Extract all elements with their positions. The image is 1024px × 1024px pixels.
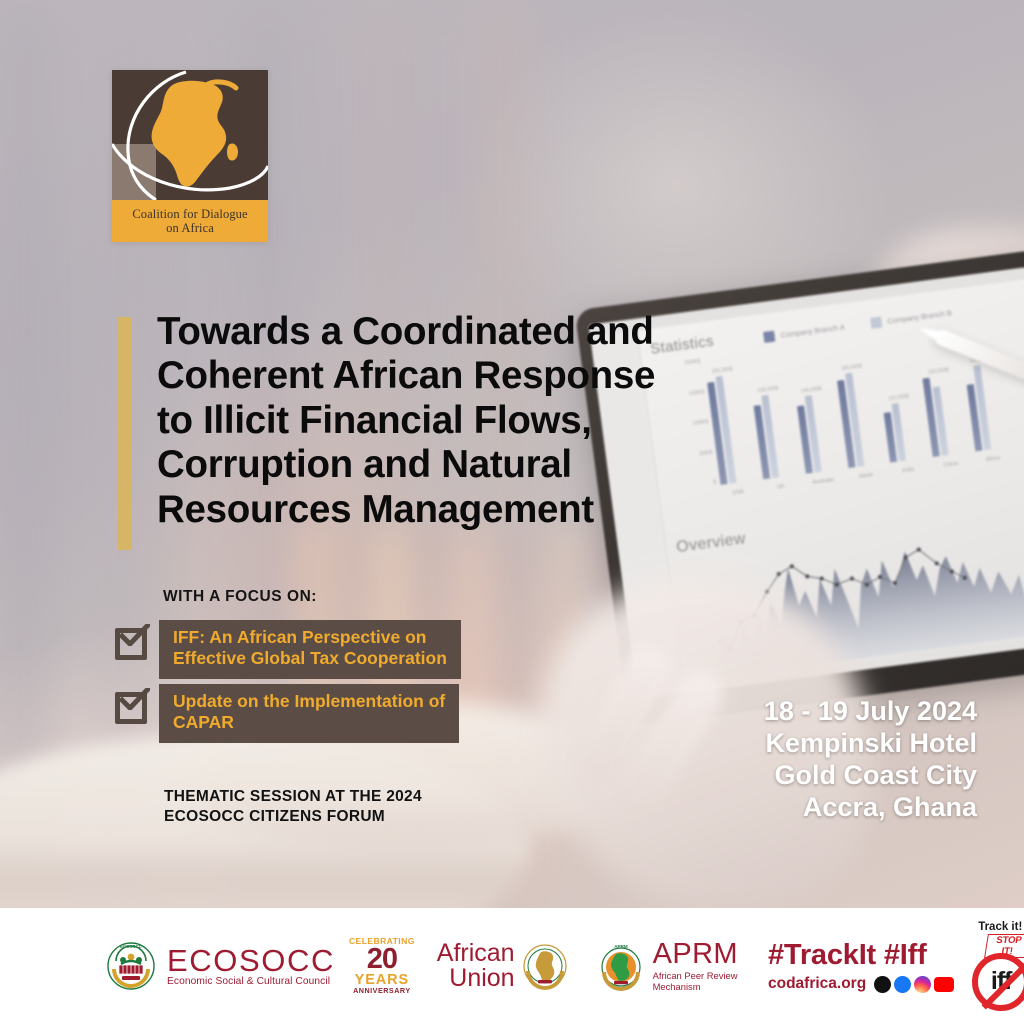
focus-text-line: Effective Global Tax Cooperation	[173, 648, 447, 669]
event-area: Gold Coast City	[771, 759, 980, 791]
bar-value-label: 110,000$	[882, 393, 915, 403]
ecosocc-logo: ECOSOCC ECOSOCC Economic Social & Cultur…	[104, 939, 335, 993]
focus-item-iff: IFF: An African Perspective on Effective…	[113, 620, 461, 679]
x-icon[interactable]	[874, 976, 891, 993]
page-title: Towards a Coordinated and Coherent Afric…	[157, 310, 757, 532]
focus-pill: IFF: An African Perspective on Effective…	[159, 620, 461, 679]
venue-row: 18 - 19 July 2024	[761, 695, 980, 727]
venue-row: Gold Coast City	[761, 759, 980, 791]
title-accent-bar	[118, 317, 132, 550]
bar-category-label: China	[934, 460, 967, 470]
venue-row: Accra, Ghana	[761, 791, 980, 823]
facebook-icon[interactable]	[894, 976, 911, 993]
bar-category-label: Japan	[849, 471, 882, 481]
checkmark-icon	[120, 688, 150, 710]
title-line: to Illicit Financial Flows,	[157, 399, 757, 443]
bar-category-label: Australia	[807, 476, 840, 486]
footer-bar: ECOSOCC ECOSOCC Economic Social & Cultur…	[0, 908, 1024, 1024]
african-union-logo: African Union	[437, 941, 570, 991]
event-venue-block: 18 - 19 July 2024 Kempinski Hotel Gold C…	[761, 695, 980, 824]
african-union-wordmark: African Union	[437, 941, 515, 991]
coda-logo-caption: Coalition for Dialogue on Africa	[112, 200, 268, 242]
title-line: Coherent African Response	[157, 354, 757, 398]
anniversary-label: ANNIVERSARY	[349, 987, 415, 994]
focus-text-line: Update on the Implementation of	[173, 691, 445, 712]
event-city: Accra, Ghana	[800, 791, 980, 823]
thematic-line: THEMATIC SESSION AT THE 2024	[164, 787, 422, 807]
overview-title: Overview	[675, 530, 747, 557]
ecosocc-fullname: Economic Social & Cultural Council	[167, 977, 335, 987]
checkbox-checked-icon	[113, 686, 153, 726]
focus-text-line: CAPAR	[173, 712, 445, 733]
checkmark-icon	[120, 624, 150, 646]
bar-group: China150,000$	[923, 374, 966, 457]
bar-group: Africa162,000$	[964, 363, 1008, 452]
aprm-wordmark: APRM African Peer Review Mechanism	[653, 940, 738, 992]
focus-label: WITH A FOCUS ON:	[163, 588, 317, 606]
legend-label-a: Company Branch A	[780, 322, 845, 339]
aprm-acronym: APRM	[653, 940, 738, 970]
venue-row: Kempinski Hotel	[761, 727, 980, 759]
aprm-sub-line1: African Peer Review	[653, 970, 738, 981]
no-iff-icon: iff	[972, 953, 1024, 1011]
aprm-sub-line2: Mechanism	[653, 981, 738, 992]
title-line: Corruption and Natural	[157, 443, 757, 487]
thematic-session: THEMATIC SESSION AT THE 2024 ECOSOCC CIT…	[164, 787, 422, 827]
au-line1: African	[437, 941, 515, 966]
coda-logo-emblem	[112, 70, 268, 200]
thematic-line: ECOSOCC CITIZENS FORUM	[164, 807, 422, 827]
event-hotel: Kempinski Hotel	[762, 727, 980, 759]
iff-track-text: Track it!	[978, 921, 1022, 933]
bar-category-label: India	[892, 465, 925, 475]
iff-slogan: Track it! STOP IT! Get it!	[972, 922, 1024, 952]
bar-value-label: 146,000$	[795, 385, 828, 395]
anniversary-badge: CELEBRATING 20 YEARS ANNIVERSARY	[349, 937, 415, 994]
focus-item-capar: Update on the Implementation of CAPAR	[113, 684, 459, 743]
bar-category-label: Africa	[976, 454, 1009, 464]
bar-category-label: UK	[764, 482, 797, 492]
bar-value-label: 150,000$	[922, 366, 955, 376]
svg-text:APRM: APRM	[614, 944, 628, 949]
focus-text-line: IFF: An African Perspective on	[173, 627, 447, 648]
social-icons	[874, 976, 954, 993]
bar-value-label: 180,000$	[835, 363, 868, 373]
coda-logo: Coalition for Dialogue on Africa	[112, 70, 268, 242]
event-date: 18 - 19 July 2024	[761, 695, 980, 727]
ecosocc-emblem-icon: ECOSOCC	[104, 939, 158, 993]
instagram-icon[interactable]	[914, 976, 931, 993]
focus-pill: Update on the Implementation of CAPAR	[159, 684, 459, 743]
ecosocc-acronym: ECOSOCC	[167, 945, 335, 976]
anniversary-number: 20	[349, 945, 415, 974]
anniversary-years: YEARS	[349, 973, 415, 988]
website-url[interactable]: codafrica.org	[768, 975, 866, 993]
ecosocc-wordmark: ECOSOCC Economic Social & Cultural Counc…	[167, 945, 335, 987]
bar-group: India110,000$	[883, 401, 923, 463]
youtube-icon[interactable]	[934, 977, 954, 992]
social-row: codafrica.org	[768, 975, 954, 993]
social-block: #TrackIt #Iff codafrica.org	[768, 939, 954, 993]
aprm-logo: APRM APRM African Peer Review Mechanism	[596, 940, 738, 992]
event-poster: Statistics Company Branch A Company Bran…	[0, 0, 1024, 1024]
hashtags: #TrackIt #Iff	[768, 939, 954, 972]
title-line: Towards a Coordinated and	[157, 310, 757, 354]
africa-map-icon	[112, 70, 268, 200]
legend-swatch-b	[870, 317, 882, 329]
title-line: Resources Management	[157, 488, 757, 532]
au-line2: Union	[437, 966, 515, 991]
african-union-emblem-icon	[520, 941, 570, 991]
legend-item: Company Branch A	[763, 321, 845, 343]
aprm-emblem-icon: APRM	[596, 941, 646, 991]
coda-caption-line2: on Africa	[166, 221, 214, 235]
coda-caption-line1: Coalition for Dialogue	[132, 207, 247, 221]
bar-group: UK158,000$	[752, 393, 795, 480]
bar-group: Japan180,000$	[836, 371, 881, 468]
svg-text:ECOSOCC: ECOSOCC	[120, 944, 142, 949]
legend-item: Company Branch B	[870, 307, 953, 329]
bar-group: Australia146,000$	[796, 393, 839, 474]
checkbox-checked-icon	[113, 622, 153, 662]
prohibition-slash	[982, 958, 1024, 1009]
legend-swatch-a	[763, 331, 775, 343]
iff-campaign-logo: Track it! STOP IT! Get it! iff	[972, 922, 1024, 1011]
